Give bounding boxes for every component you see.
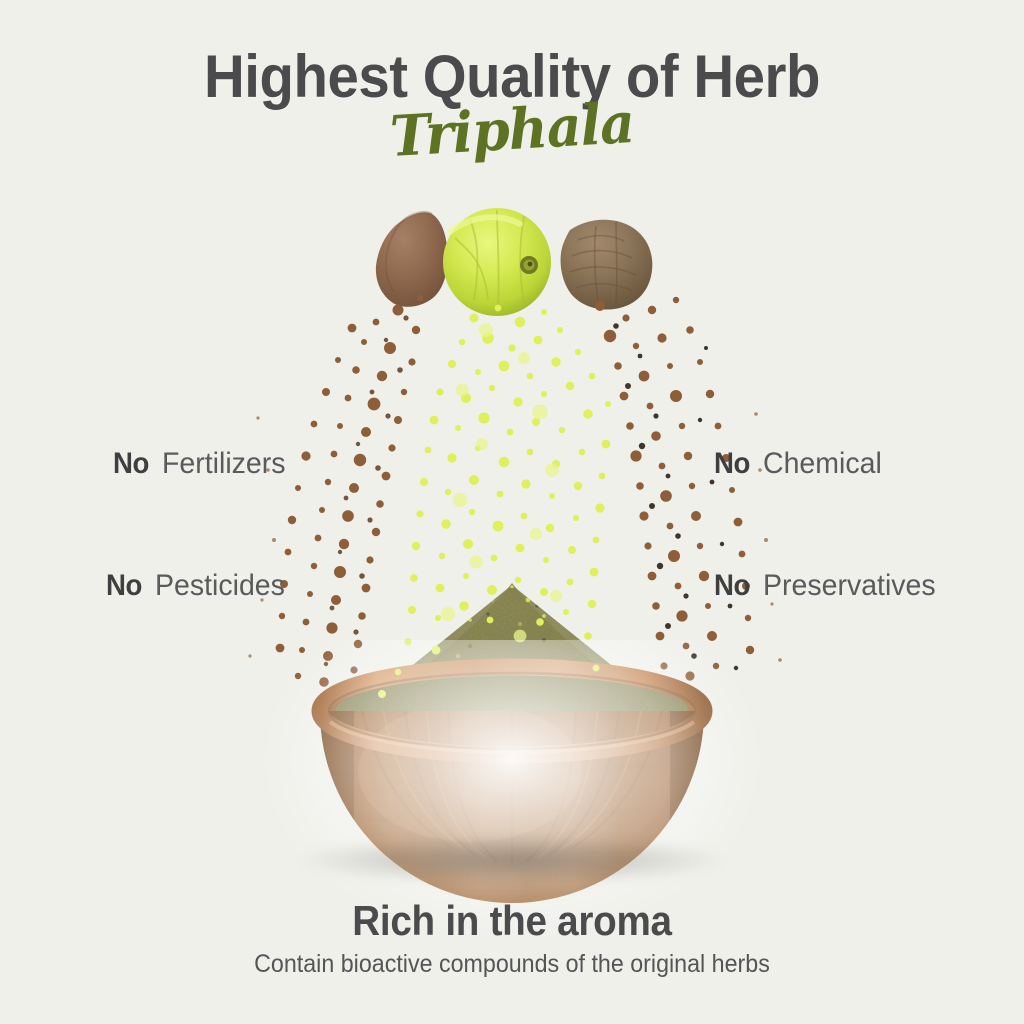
claim-no-fertilizers: No Fertilizers xyxy=(0,448,292,480)
footer-block: Rich in the aroma Contain bioactive comp… xyxy=(0,898,1024,978)
claim-prefix: No xyxy=(113,448,149,480)
claim-no-preservatives: No Preservatives xyxy=(714,570,1024,602)
claim-no-chemical: No Chemical xyxy=(714,448,1024,480)
headline-block: Highest Quality of Herb Triphala xyxy=(0,46,1024,160)
claim-no-pesticides: No Pesticides xyxy=(0,570,292,602)
claim-label: Pesticides xyxy=(155,570,285,602)
wooden-bowl xyxy=(320,667,704,903)
powder-mound xyxy=(340,575,690,720)
bowl-glow xyxy=(262,640,762,940)
haritaki-fruit xyxy=(376,212,448,307)
powder-particles xyxy=(248,295,781,698)
claim-prefix: No xyxy=(714,570,750,602)
bibhitaki-fruit xyxy=(561,220,653,310)
claim-label: Preservatives xyxy=(763,570,936,602)
amla-fruit xyxy=(443,208,551,316)
footer-subtext: Contain bioactive compounds of the origi… xyxy=(36,950,988,978)
claim-prefix: No xyxy=(714,448,750,480)
claim-label: Chemical xyxy=(763,448,882,480)
bowl-shadow xyxy=(300,836,724,884)
poster-canvas: Highest Quality of Herb Triphala No Fert… xyxy=(0,0,1024,1024)
footer-headline: Rich in the aroma xyxy=(41,898,983,944)
claim-prefix: No xyxy=(106,570,142,602)
claim-label: Fertilizers xyxy=(162,448,286,480)
